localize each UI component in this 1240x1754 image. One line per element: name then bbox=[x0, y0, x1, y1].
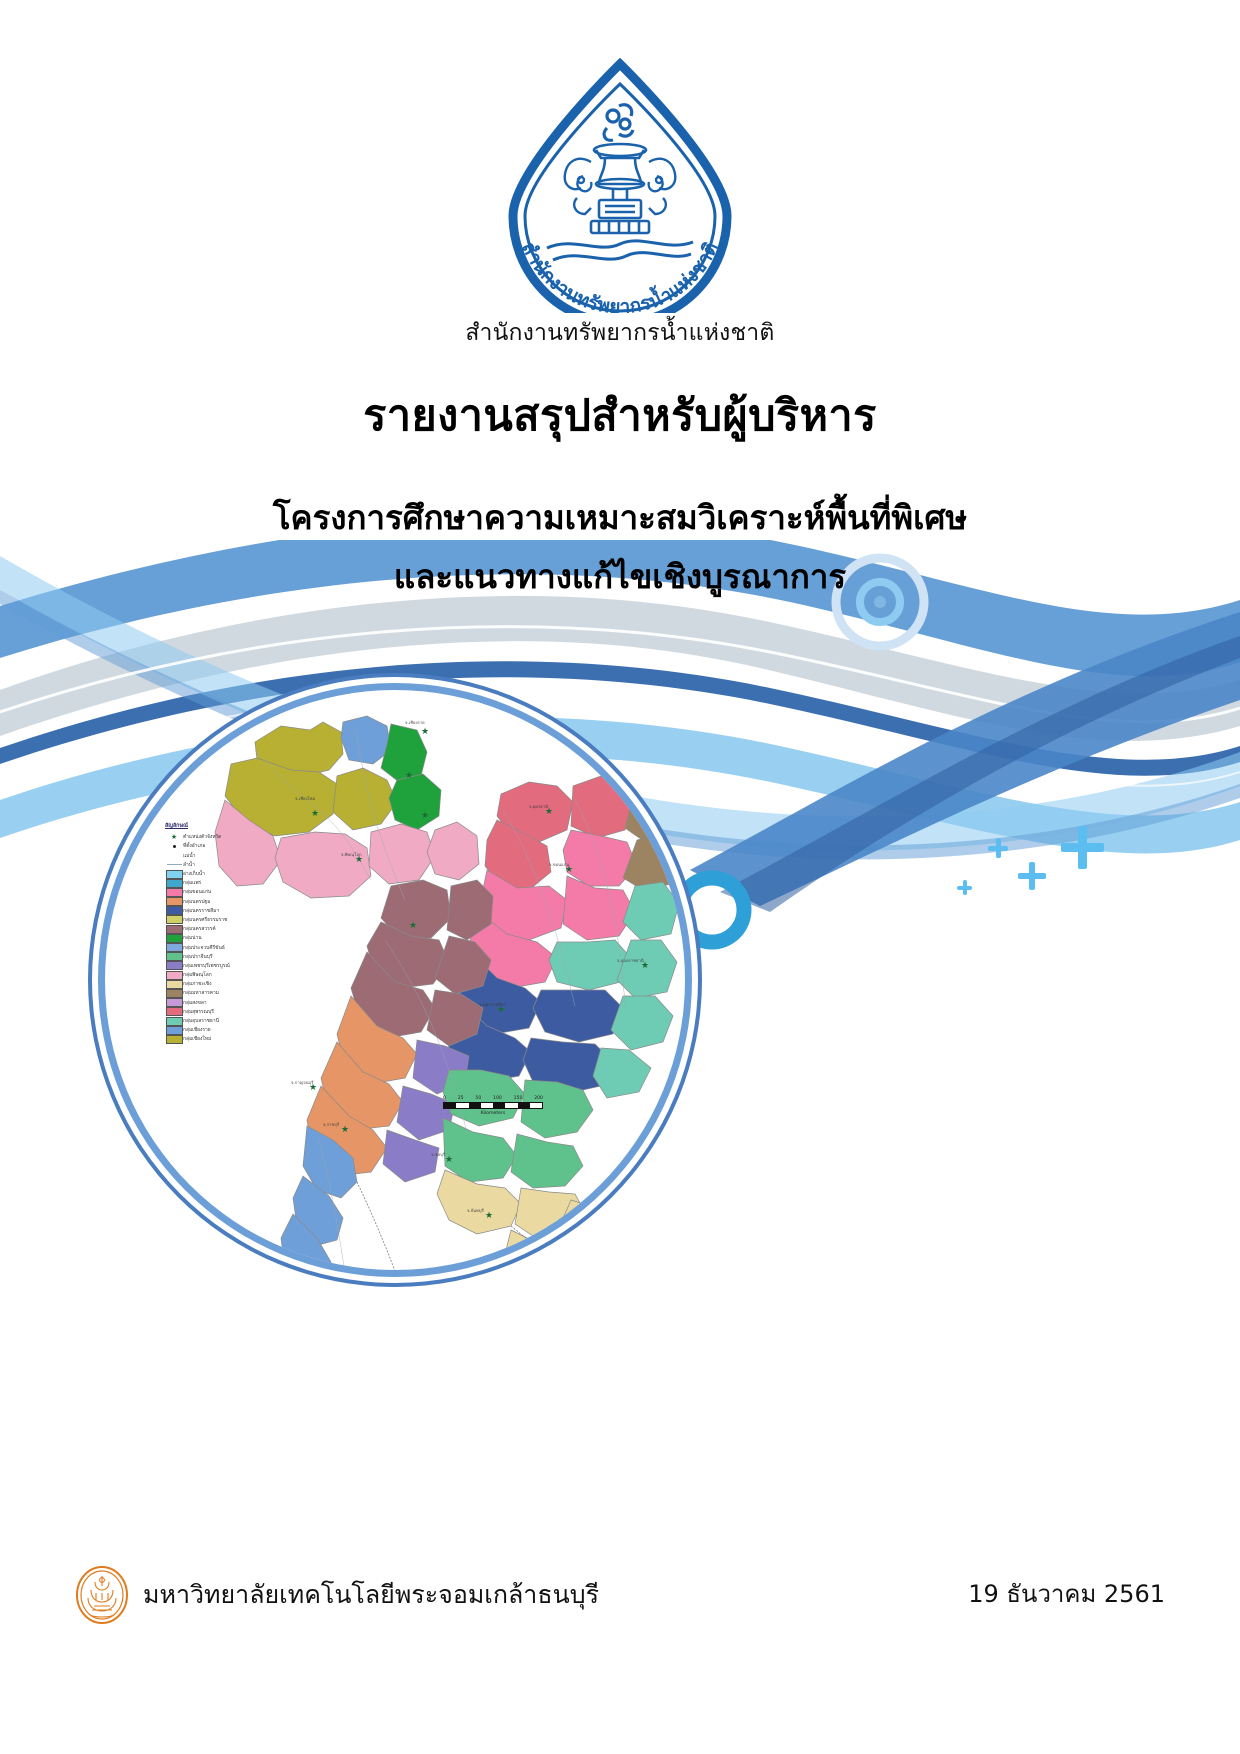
legend-item-label: กลุ่มนครปฐม bbox=[183, 898, 210, 906]
legend-color-swatch bbox=[165, 961, 183, 970]
legend-item: กลุ่มขอนแก่น bbox=[165, 888, 285, 897]
legend-item: ★ตำแหน่งตัวจังหวัด bbox=[165, 833, 285, 842]
svg-text:★: ★ bbox=[421, 810, 429, 820]
legend-color-swatch bbox=[165, 906, 183, 915]
footer-institution: มหาวิทยาลัยเทคโนโลยีพระจอมเกล้าธนบุรี bbox=[75, 1566, 599, 1624]
legend-item-label: กลุ่มนครศรีธรรมราช bbox=[183, 916, 227, 924]
svg-text:E: E bbox=[141, 708, 144, 713]
legend-color-swatch bbox=[165, 1017, 183, 1026]
svg-text:★: ★ bbox=[409, 920, 417, 930]
legend-item: กลุ่มพิษณุโลก bbox=[165, 971, 285, 980]
legend-item: กลุ่มนครศรีธรรมราช bbox=[165, 916, 285, 925]
legend-color-swatch bbox=[165, 943, 183, 952]
legend-item-label: กลุ่มนครสวรรค์ bbox=[183, 925, 216, 933]
water-drop-emblem-icon: สำนักงานทรัพยากรน้ำแห่งชาติ bbox=[495, 58, 745, 313]
scale-tick: 25 bbox=[458, 1096, 464, 1101]
thailand-map-circle: ★★ ★★ ★★ ★★ ★★ ★★ ★★ ★★ ★★ ★★ จ.เชียงราย… bbox=[105, 690, 685, 1270]
scale-tick: 200 bbox=[534, 1096, 543, 1101]
legend-item: กลุ่มเชียงราย bbox=[165, 1026, 285, 1035]
legend-item-label: กลุ่มสงขลา bbox=[183, 999, 207, 1007]
legend-item-label: กลุ่มแพร่ bbox=[183, 879, 201, 887]
legend-item-label: กลุ่มเชียงใหม่ bbox=[183, 1035, 211, 1043]
legend-item-label: กลุ่มปราจีนบุรี bbox=[183, 953, 213, 961]
svg-text:★: ★ bbox=[657, 814, 665, 824]
legend-color-swatch bbox=[165, 934, 183, 943]
svg-text:★: ★ bbox=[421, 726, 429, 736]
svg-text:จ.ขอนแก่น: จ.ขอนแก่น bbox=[549, 862, 569, 867]
scale-tick-labels: 02550100150200 bbox=[443, 1096, 543, 1101]
legend-color-swatch bbox=[165, 879, 183, 888]
legend-item: ลำน้ำ bbox=[165, 861, 285, 870]
legend-item: ที่ตั้งอำเภอ bbox=[165, 842, 285, 851]
svg-text:จ.เชียงราย: จ.เชียงราย bbox=[405, 720, 425, 725]
legend-item: กลุ่มนครสวรรค์ bbox=[165, 925, 285, 934]
university-name: มหาวิทยาลัยเทคโนโลยีพระจอมเกล้าธนบุรี bbox=[143, 1575, 599, 1615]
map-legend: สัญลักษณ์ ★ตำแหน่งตัวจังหวัดที่ตั้งอำเภอ… bbox=[165, 822, 285, 1044]
legend-color-swatch bbox=[165, 952, 183, 961]
legend-item: กลุ่มสงขลา bbox=[165, 998, 285, 1007]
legend-line-icon bbox=[165, 864, 183, 865]
scale-tick: 150 bbox=[514, 1096, 523, 1101]
header-logo-block: สำนักงานทรัพยากรน้ำแห่งชาติ สำนักงานทรัพ… bbox=[0, 58, 1240, 351]
legend-color-swatch bbox=[165, 1026, 183, 1035]
legend-color-swatch bbox=[165, 888, 183, 897]
legend-item: กลุ่มมหาสารคาม bbox=[165, 989, 285, 998]
legend-color-swatch bbox=[165, 870, 183, 879]
legend-item: กลุ่มเชียงใหม่ bbox=[165, 1035, 285, 1044]
kmutt-seal-icon bbox=[75, 1566, 129, 1624]
scale-unit-label: Kilometers bbox=[443, 1111, 543, 1116]
legend-item-label: กลุ่มมหาสารคาม bbox=[183, 989, 219, 997]
project-subtitle: โครงการศึกษาความเหมาะสมวิเคราะห์พื้นที่พ… bbox=[0, 492, 1240, 604]
legend-color-swatch bbox=[165, 897, 183, 906]
svg-text:N: N bbox=[124, 690, 127, 695]
legend-item-label: กลุ่มสุพรรณบุรี bbox=[183, 1008, 214, 1016]
legend-color-swatch bbox=[165, 971, 183, 980]
legend-color-swatch bbox=[165, 1035, 183, 1044]
legend-item-label: กลุ่มพิษณุโลก bbox=[183, 971, 212, 979]
legend-item-label: กลุ่มอุบลราชธานี bbox=[183, 1017, 219, 1025]
legend-color-swatch bbox=[165, 980, 183, 989]
legend-color-swatch bbox=[165, 1007, 183, 1016]
legend-item-label: ตำแหน่งตัวจังหวัด bbox=[183, 833, 221, 841]
svg-text:S: S bbox=[124, 726, 127, 730]
legend-item: แม่น้ำ bbox=[165, 851, 285, 860]
svg-text:★: ★ bbox=[341, 1124, 349, 1134]
legend-item-label: ที่ตั้งอำเภอ bbox=[183, 842, 205, 850]
svg-text:★: ★ bbox=[485, 1210, 493, 1220]
legend-item-label: แม่น้ำ bbox=[183, 852, 195, 860]
legend-item-label: กลุ่มเชียงราย bbox=[183, 1026, 211, 1034]
legend-item-label: กลุ่มภาชะเชิง bbox=[183, 980, 211, 988]
legend-item-label: ลำน้ำ bbox=[183, 861, 195, 869]
scale-tick: 50 bbox=[475, 1096, 481, 1101]
legend-item: อ่างเก็บน้ำ bbox=[165, 870, 285, 879]
legend-item: กลุ่มแพร่ bbox=[165, 879, 285, 888]
cover-page: สำนักงานทรัพยากรน้ำแห่งชาติ สำนักงานทรัพ… bbox=[0, 0, 1240, 1754]
map-graphic: ★★ ★★ ★★ ★★ ★★ ★★ ★★ ★★ ★★ ★★ จ.เชียงราย… bbox=[105, 690, 685, 1270]
scale-tick: 0 bbox=[443, 1096, 446, 1101]
svg-text:★: ★ bbox=[503, 690, 511, 692]
scale-bar-graphic bbox=[443, 1102, 543, 1109]
legend-star-icon: ★ bbox=[165, 834, 183, 841]
compass-rose-icon: N S E W bbox=[105, 690, 145, 730]
legend-item: กลุ่มเพชรบุรีเพชรบูรณ์ bbox=[165, 962, 285, 971]
svg-text:★: ★ bbox=[311, 808, 319, 818]
legend-item: กลุ่มสุพรรณบุรี bbox=[165, 1008, 285, 1017]
page-title: รายงานสรุปสำหรับผู้บริหาร bbox=[0, 390, 1240, 444]
legend-item: กลุ่มอุบลราชธานี bbox=[165, 1017, 285, 1026]
page-footer: มหาวิทยาลัยเทคโนโลยีพระจอมเกล้าธนบุรี 19… bbox=[0, 1566, 1240, 1626]
legend-color-swatch bbox=[165, 925, 183, 934]
legend-item-label: กลุ่มน่าน bbox=[183, 934, 202, 942]
title-block: รายงานสรุปสำหรับผู้บริหาร โครงการศึกษาคว… bbox=[0, 390, 1240, 603]
legend-color-swatch bbox=[165, 998, 183, 1007]
legend-item: กลุ่มประจวบคีรีขันธ์ bbox=[165, 943, 285, 952]
legend-color-swatch bbox=[165, 915, 183, 924]
svg-text:จ.นครพนม: จ.นครพนม bbox=[635, 814, 655, 819]
legend-item: กลุ่มนครราชสีมา bbox=[165, 907, 285, 916]
report-date: 19 ธันวาคม 2561 bbox=[968, 1574, 1165, 1613]
legend-rows: ★ตำแหน่งตัวจังหวัดที่ตั้งอำเภอแม่น้ำลำน้… bbox=[165, 833, 285, 1044]
legend-item-label: กลุ่มประจวบคีรีขันธ์ bbox=[183, 944, 225, 952]
legend-color-swatch bbox=[165, 989, 183, 998]
legend-title: สัญลักษณ์ bbox=[165, 822, 285, 830]
legend-item-label: อ่างเก็บน้ำ bbox=[183, 870, 205, 878]
legend-item-label: กลุ่มขอนแก่น bbox=[183, 888, 211, 896]
svg-text:W: W bbox=[106, 708, 110, 713]
legend-item: กลุ่มปราจีนบุรี bbox=[165, 952, 285, 961]
legend-dot-icon bbox=[165, 845, 183, 848]
svg-text:★: ★ bbox=[405, 770, 413, 780]
legend-item-label: กลุ่มเพชรบุรีเพชรบูรณ์ bbox=[183, 962, 230, 970]
project-subtitle-line2: และแนวทางแก้ไขเชิงบูรณาการ bbox=[0, 551, 1240, 604]
svg-text:จ.นครราชสีมา: จ.นครราชสีมา bbox=[479, 1002, 506, 1007]
legend-item: กลุ่มนครปฐม bbox=[165, 897, 285, 906]
organization-name: สำนักงานทรัพยากรน้ำแห่งชาติ bbox=[465, 315, 774, 351]
project-subtitle-line1: โครงการศึกษาความเหมาะสมวิเคราะห์พื้นที่พ… bbox=[273, 498, 967, 537]
legend-item: กลุ่มน่าน bbox=[165, 934, 285, 943]
scale-tick: 100 bbox=[493, 1096, 502, 1101]
map-scale-bar: 02550100150200 Kilometers bbox=[443, 1096, 543, 1116]
svg-text:★: ★ bbox=[445, 1154, 453, 1164]
legend-item-label: กลุ่มนครราชสีมา bbox=[183, 907, 219, 915]
legend-item: กลุ่มภาชะเชิง bbox=[165, 980, 285, 989]
svg-text:จ.เชียงใหม่: จ.เชียงใหม่ bbox=[295, 795, 315, 801]
